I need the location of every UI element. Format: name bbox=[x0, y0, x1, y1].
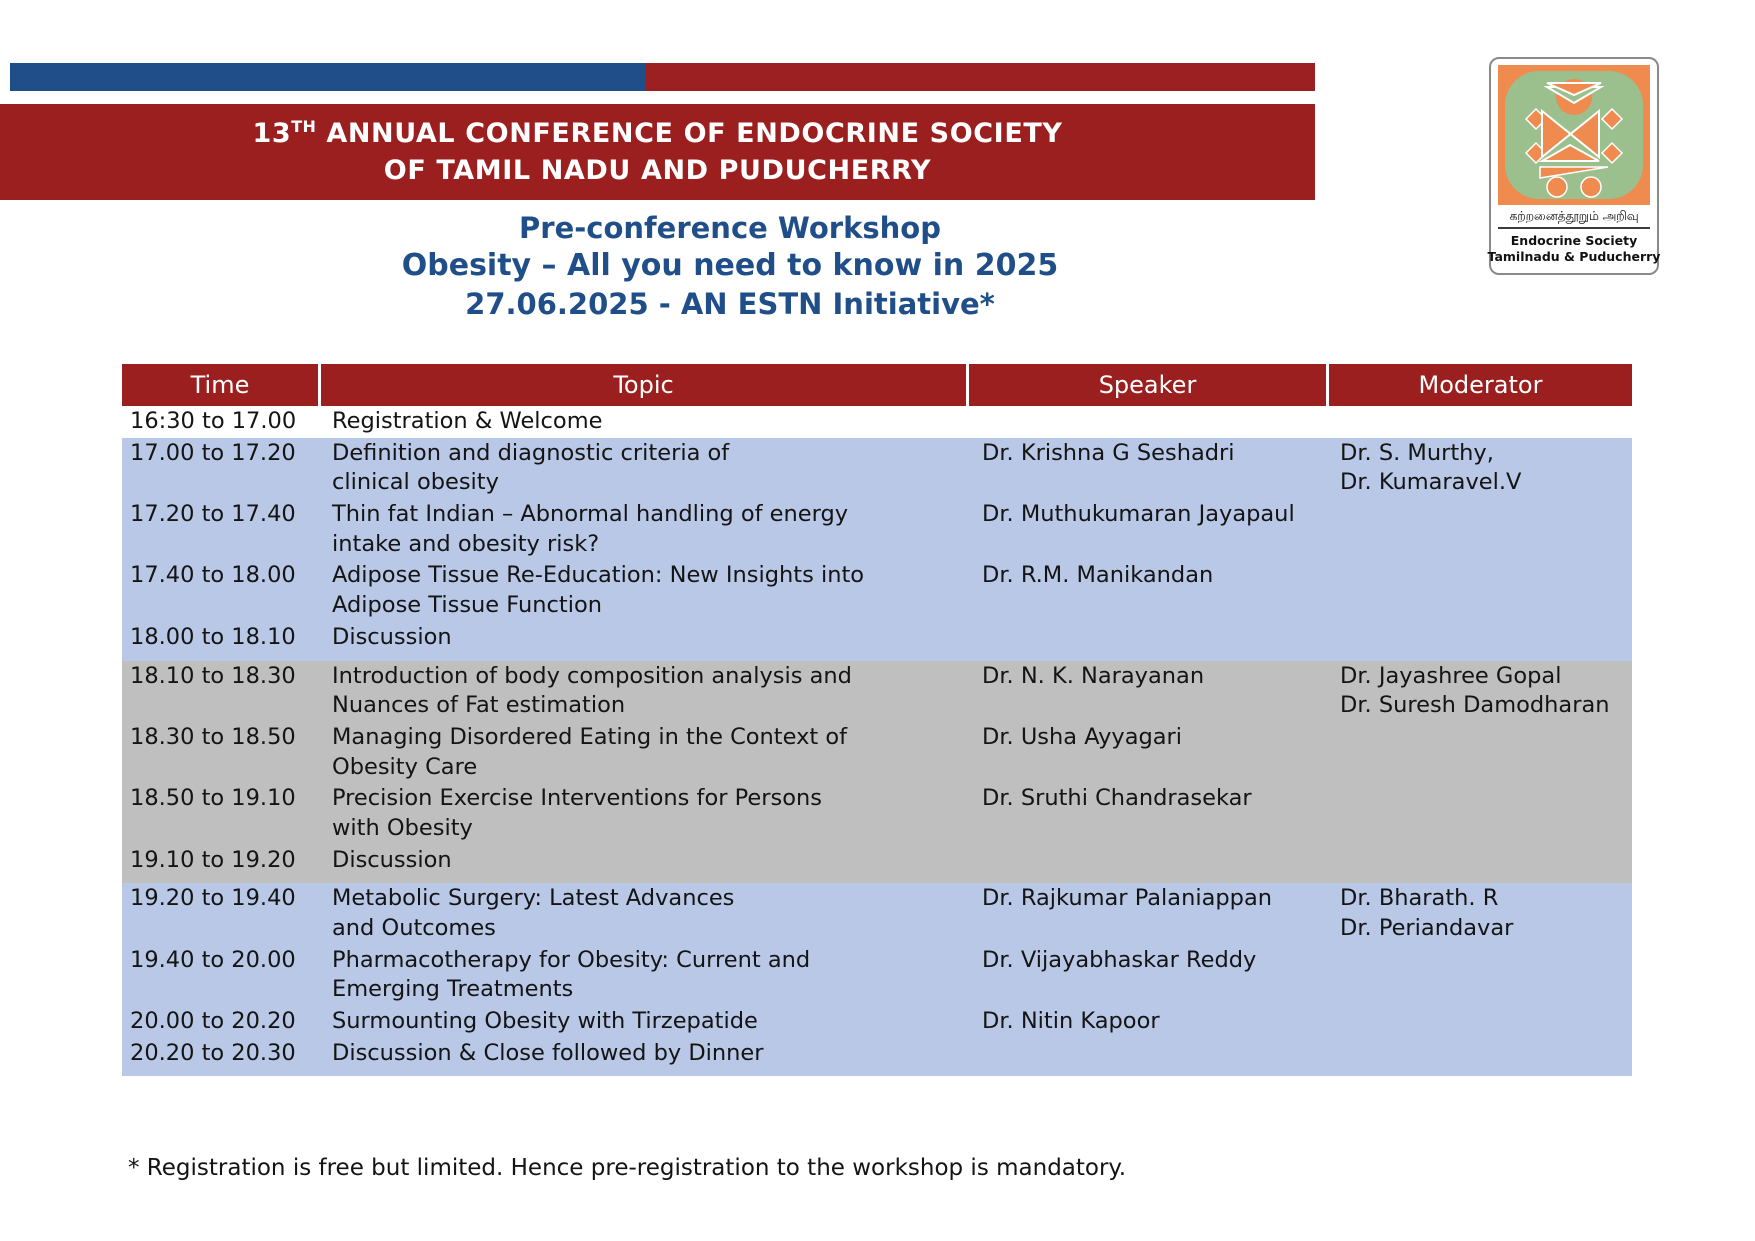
cell-time: 18.30 to 18.50 bbox=[122, 722, 318, 783]
logo-divider bbox=[1498, 227, 1650, 229]
cell-moderator: Dr. S. Murthy,Dr. Kumaravel.V bbox=[1326, 438, 1632, 499]
cell-speaker-line-1: Dr. Sruthi Chandrasekar bbox=[982, 785, 1252, 811]
cell-topic-line-1: Metabolic Surgery: Latest Advances bbox=[332, 885, 734, 911]
cell-topic: Adipose Tissue Re-Education: New Insight… bbox=[318, 560, 966, 621]
cell-time-line-1: 19.20 to 19.40 bbox=[130, 885, 296, 911]
column-header-topic: Topic bbox=[318, 364, 966, 406]
cell-moderator-line-1: Dr. Bharath. R bbox=[1340, 885, 1498, 911]
cell-speaker: Dr. Sruthi Chandrasekar bbox=[966, 783, 1326, 844]
table-row: 19.20 to 19.40Metabolic Surgery: Latest … bbox=[122, 883, 1632, 944]
table-row: 20.00 to 20.20Surmounting Obesity with T… bbox=[122, 1006, 1632, 1038]
cell-time-line-1: 18.50 to 19.10 bbox=[130, 785, 296, 811]
top-accent-bar-blue bbox=[10, 63, 645, 91]
cell-moderator bbox=[1326, 1006, 1632, 1038]
cell-topic: Pharmacotherapy for Obesity: Current and… bbox=[318, 945, 966, 1006]
cell-time-line-1: 18.10 to 18.30 bbox=[130, 663, 296, 689]
top-accent-bar-red bbox=[645, 63, 1315, 91]
cell-topic-line-2: clinical obesity bbox=[332, 468, 960, 498]
column-header-time: Time bbox=[122, 364, 318, 406]
table-row: 17.40 to 18.00Adipose Tissue Re-Educatio… bbox=[122, 560, 1632, 621]
cell-speaker: Dr. Muthukumaran Jayapaul bbox=[966, 499, 1326, 560]
cell-topic: Metabolic Surgery: Latest Advancesand Ou… bbox=[318, 883, 966, 944]
cell-time-line-1: 17.20 to 17.40 bbox=[130, 501, 296, 527]
cell-time-line-1: 16:30 to 17.00 bbox=[130, 408, 296, 434]
cell-topic-line-1: Pharmacotherapy for Obesity: Current and bbox=[332, 947, 810, 973]
cell-topic: Discussion & Close followed by Dinner bbox=[318, 1038, 966, 1070]
cell-speaker-line-1: Dr. R.M. Manikandan bbox=[982, 562, 1213, 588]
conference-title-line-2: OF TAMIL NADU AND PUDUCHERRY bbox=[384, 152, 931, 189]
cell-time-line-1: 17.00 to 17.20 bbox=[130, 440, 296, 466]
logo-emblem-icon bbox=[1498, 65, 1650, 205]
cell-time: 18.50 to 19.10 bbox=[122, 783, 318, 844]
cell-time: 19.40 to 20.00 bbox=[122, 945, 318, 1006]
cell-moderator bbox=[1326, 406, 1632, 438]
logo-org-line-1: Endocrine Society bbox=[1511, 233, 1637, 248]
cell-time: 20.20 to 20.30 bbox=[122, 1038, 318, 1070]
schedule-session-block: 19.20 to 19.40Metabolic Surgery: Latest … bbox=[122, 883, 1632, 1076]
schedule-session-block: 17.00 to 17.20Definition and diagnostic … bbox=[122, 438, 1632, 661]
column-header-moderator: Moderator bbox=[1326, 364, 1632, 406]
cell-time-line-1: 18.00 to 18.10 bbox=[130, 624, 296, 650]
cell-speaker-line-1: Dr. Nitin Kapoor bbox=[982, 1008, 1160, 1034]
cell-speaker-line-1: Dr. Rajkumar Palaniappan bbox=[982, 885, 1272, 911]
cell-speaker-line-1: Dr. Krishna G Seshadri bbox=[982, 440, 1235, 466]
cell-moderator bbox=[1326, 499, 1632, 560]
cell-topic-line-1: Surmounting Obesity with Tirzepatide bbox=[332, 1008, 758, 1034]
cell-moderator bbox=[1326, 722, 1632, 783]
table-row: 18.50 to 19.10Precision Exercise Interve… bbox=[122, 783, 1632, 844]
cell-topic-line-1: Precision Exercise Interventions for Per… bbox=[332, 785, 822, 811]
cell-moderator bbox=[1326, 783, 1632, 844]
cell-topic-line-1: Registration & Welcome bbox=[332, 408, 602, 434]
cell-topic-line-2: Obesity Care bbox=[332, 753, 960, 783]
block-spacer bbox=[122, 876, 1632, 883]
workshop-date-initiative: 27.06.2025 - AN ESTN Initiative* bbox=[0, 286, 1460, 323]
schedule-table: Time Topic Speaker Moderator 16:30 to 17… bbox=[122, 364, 1632, 1076]
cell-topic-line-2: and Outcomes bbox=[332, 914, 960, 944]
conference-title-ordinal: 13 bbox=[252, 118, 291, 149]
table-row: 18.30 to 18.50Managing Disordered Eating… bbox=[122, 722, 1632, 783]
table-row: 17.20 to 17.40Thin fat Indian – Abnormal… bbox=[122, 499, 1632, 560]
table-row: 19.40 to 20.00Pharmacotherapy for Obesit… bbox=[122, 945, 1632, 1006]
table-row: 17.00 to 17.20Definition and diagnostic … bbox=[122, 438, 1632, 499]
conference-title-banner: 13TH ANNUAL CONFERENCE OF ENDOCRINE SOCI… bbox=[0, 104, 1315, 200]
cell-time: 18.00 to 18.10 bbox=[122, 622, 318, 654]
cell-time: 19.10 to 19.20 bbox=[122, 845, 318, 877]
cell-moderator bbox=[1326, 1038, 1632, 1070]
cell-topic: Surmounting Obesity with Tirzepatide bbox=[318, 1006, 966, 1038]
cell-moderator-line-1: Dr. Jayashree Gopal bbox=[1340, 663, 1561, 689]
cell-moderator bbox=[1326, 845, 1632, 877]
cell-time-line-1: 17.40 to 18.00 bbox=[130, 562, 296, 588]
cell-speaker bbox=[966, 406, 1326, 438]
cell-topic-line-1: Discussion bbox=[332, 847, 452, 873]
cell-topic: Precision Exercise Interventions for Per… bbox=[318, 783, 966, 844]
cell-topic-line-1: Discussion bbox=[332, 624, 452, 650]
cell-speaker-line-1: Dr. Vijayabhaskar Reddy bbox=[982, 947, 1256, 973]
cell-speaker-line-1: Dr. Usha Ayyagari bbox=[982, 724, 1182, 750]
schedule-table-header-row: Time Topic Speaker Moderator bbox=[122, 364, 1632, 406]
cell-moderator-line-2: Dr. Periandavar bbox=[1340, 914, 1632, 944]
workshop-subtitle: Pre-conference Workshop Obesity – All yo… bbox=[0, 210, 1460, 323]
cell-speaker: Dr. R.M. Manikandan bbox=[966, 560, 1326, 621]
cell-speaker bbox=[966, 1038, 1326, 1070]
column-header-speaker: Speaker bbox=[966, 364, 1326, 406]
cell-topic-line-1: Adipose Tissue Re-Education: New Insight… bbox=[332, 562, 864, 588]
cell-topic-line-1: Introduction of body composition analysi… bbox=[332, 663, 852, 689]
cell-time-line-1: 20.20 to 20.30 bbox=[130, 1040, 296, 1066]
cell-topic-line-2: Nuances of Fat estimation bbox=[332, 691, 960, 721]
cell-topic-line-2: with Obesity bbox=[332, 814, 960, 844]
registration-footnote: * Registration is free but limited. Henc… bbox=[128, 1155, 1126, 1181]
cell-speaker: Dr. N. K. Narayanan bbox=[966, 661, 1326, 722]
table-row: 19.10 to 19.20Discussion bbox=[122, 845, 1632, 877]
table-row: 18.00 to 18.10Discussion bbox=[122, 622, 1632, 654]
cell-time-line-1: 19.10 to 19.20 bbox=[130, 847, 296, 873]
schedule-session-block: 16:30 to 17.00Registration & Welcome bbox=[122, 406, 1632, 438]
cell-speaker: Dr. Vijayabhaskar Reddy bbox=[966, 945, 1326, 1006]
cell-topic: Thin fat Indian – Abnormal handling of e… bbox=[318, 499, 966, 560]
cell-moderator bbox=[1326, 560, 1632, 621]
cell-time-line-1: 20.00 to 20.20 bbox=[130, 1008, 296, 1034]
cell-topic: Registration & Welcome bbox=[318, 406, 966, 438]
cell-moderator bbox=[1326, 945, 1632, 1006]
cell-time: 20.00 to 20.20 bbox=[122, 1006, 318, 1038]
cell-time: 17.20 to 17.40 bbox=[122, 499, 318, 560]
cell-speaker bbox=[966, 845, 1326, 877]
cell-moderator-line-1: Dr. S. Murthy, bbox=[1340, 440, 1494, 466]
cell-moderator-line-2: Dr. Kumaravel.V bbox=[1340, 468, 1632, 498]
cell-topic-line-1: Definition and diagnostic criteria of bbox=[332, 440, 729, 466]
cell-moderator-line-2: Dr. Suresh Damodharan bbox=[1340, 691, 1632, 721]
cell-speaker-line-1: Dr. N. K. Narayanan bbox=[982, 663, 1204, 689]
logo-org-line-2: Tamilnadu & Puducherry bbox=[1488, 249, 1661, 264]
cell-time: 19.20 to 19.40 bbox=[122, 883, 318, 944]
schedule-table-body: 16:30 to 17.00Registration & Welcome 17.… bbox=[122, 406, 1632, 1076]
cell-topic-line-1: Managing Disordered Eating in the Contex… bbox=[332, 724, 847, 750]
workshop-label: Pre-conference Workshop bbox=[0, 210, 1460, 247]
cell-topic: Definition and diagnostic criteria ofcli… bbox=[318, 438, 966, 499]
cell-time-line-1: 18.30 to 18.50 bbox=[130, 724, 296, 750]
cell-moderator: Dr. Jayashree GopalDr. Suresh Damodharan bbox=[1326, 661, 1632, 722]
conference-title-ordinal-suffix: TH bbox=[291, 117, 316, 136]
cell-topic: Discussion bbox=[318, 845, 966, 877]
cell-speaker bbox=[966, 622, 1326, 654]
cell-speaker: Dr. Krishna G Seshadri bbox=[966, 438, 1326, 499]
cell-time-line-1: 19.40 to 20.00 bbox=[130, 947, 296, 973]
table-row: 16:30 to 17.00Registration & Welcome bbox=[122, 406, 1632, 438]
conference-title-line-1-rest: ANNUAL CONFERENCE OF ENDOCRINE SOCIETY bbox=[316, 118, 1062, 149]
cell-topic: Discussion bbox=[318, 622, 966, 654]
workshop-theme: Obesity – All you need to know in 2025 bbox=[0, 247, 1460, 285]
schedule-session-block: 18.10 to 18.30Introduction of body compo… bbox=[122, 661, 1632, 884]
table-row: 20.20 to 20.30Discussion & Close followe… bbox=[122, 1038, 1632, 1070]
block-spacer bbox=[122, 654, 1632, 661]
cell-speaker-line-1: Dr. Muthukumaran Jayapaul bbox=[982, 501, 1295, 527]
cell-topic: Introduction of body composition analysi… bbox=[318, 661, 966, 722]
top-accent-bar bbox=[10, 63, 1315, 91]
cell-topic-line-2: Adipose Tissue Function bbox=[332, 591, 960, 621]
cell-moderator bbox=[1326, 622, 1632, 654]
cell-moderator: Dr. Bharath. RDr. Periandavar bbox=[1326, 883, 1632, 944]
cell-time: 17.00 to 17.20 bbox=[122, 438, 318, 499]
logo-tamil-motto: கற்றனைத்தூறும் அறிவு bbox=[1510, 208, 1639, 225]
cell-speaker: Dr. Usha Ayyagari bbox=[966, 722, 1326, 783]
cell-topic-line-1: Discussion & Close followed by Dinner bbox=[332, 1040, 764, 1066]
cell-time: 18.10 to 18.30 bbox=[122, 661, 318, 722]
cell-topic-line-2: intake and obesity risk? bbox=[332, 530, 960, 560]
cell-topic-line-2: Emerging Treatments bbox=[332, 975, 960, 1005]
cell-topic: Managing Disordered Eating in the Contex… bbox=[318, 722, 966, 783]
block-spacer bbox=[122, 1069, 1632, 1076]
conference-title-line-1: 13TH ANNUAL CONFERENCE OF ENDOCRINE SOCI… bbox=[252, 115, 1062, 152]
endocrine-society-logo: கற்றனைத்தூறும் அறிவு Endocrine Society T… bbox=[1489, 57, 1659, 275]
cell-speaker: Dr. Rajkumar Palaniappan bbox=[966, 883, 1326, 944]
cell-speaker: Dr. Nitin Kapoor bbox=[966, 1006, 1326, 1038]
cell-time: 16:30 to 17.00 bbox=[122, 406, 318, 438]
cell-time: 17.40 to 18.00 bbox=[122, 560, 318, 621]
table-row: 18.10 to 18.30Introduction of body compo… bbox=[122, 661, 1632, 722]
cell-topic-line-1: Thin fat Indian – Abnormal handling of e… bbox=[332, 501, 848, 527]
logo-org-name: Endocrine Society Tamilnadu & Puducherry bbox=[1488, 233, 1661, 264]
